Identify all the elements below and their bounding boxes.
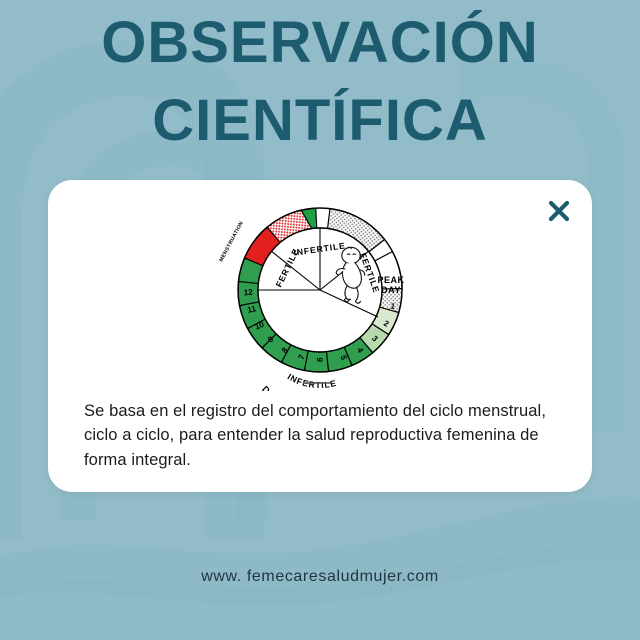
content-card: INFERTILE FERTILE FERTILE INFERTILE PEAK… — [48, 180, 592, 492]
cycle-wheel-diagram: INFERTILE FERTILE FERTILE INFERTILE PEAK… — [205, 186, 435, 391]
label-infertile-bottom: INFERTILE — [286, 372, 338, 391]
close-icon — [548, 200, 570, 222]
peak-day-label: PEAK DAY — [377, 275, 404, 295]
cycle-wheel-svg: INFERTILE FERTILE FERTILE INFERTILE PEAK… — [205, 186, 435, 391]
card-body-text: Se basa en el registro del comportamient… — [84, 399, 560, 473]
close-button[interactable] — [544, 196, 574, 226]
title-line-1: OBSERVACIÓN — [0, 14, 640, 72]
page-title: OBSERVACIÓN CIENTÍFICA — [0, 14, 640, 150]
peak-day-line-2: DAY — [381, 285, 401, 295]
peak-day-line-1: PEAK — [377, 275, 404, 285]
poster-root: OBSERVACIÓN CIENTÍFICA — [0, 0, 640, 640]
title-line-2: CIENTÍFICA — [0, 92, 640, 150]
day-number-12: 12 — [243, 288, 253, 298]
label-menstruation: MENSTRUATION — [218, 220, 244, 263]
footer-url[interactable]: www. femecaresaludmujer.com — [0, 568, 640, 586]
